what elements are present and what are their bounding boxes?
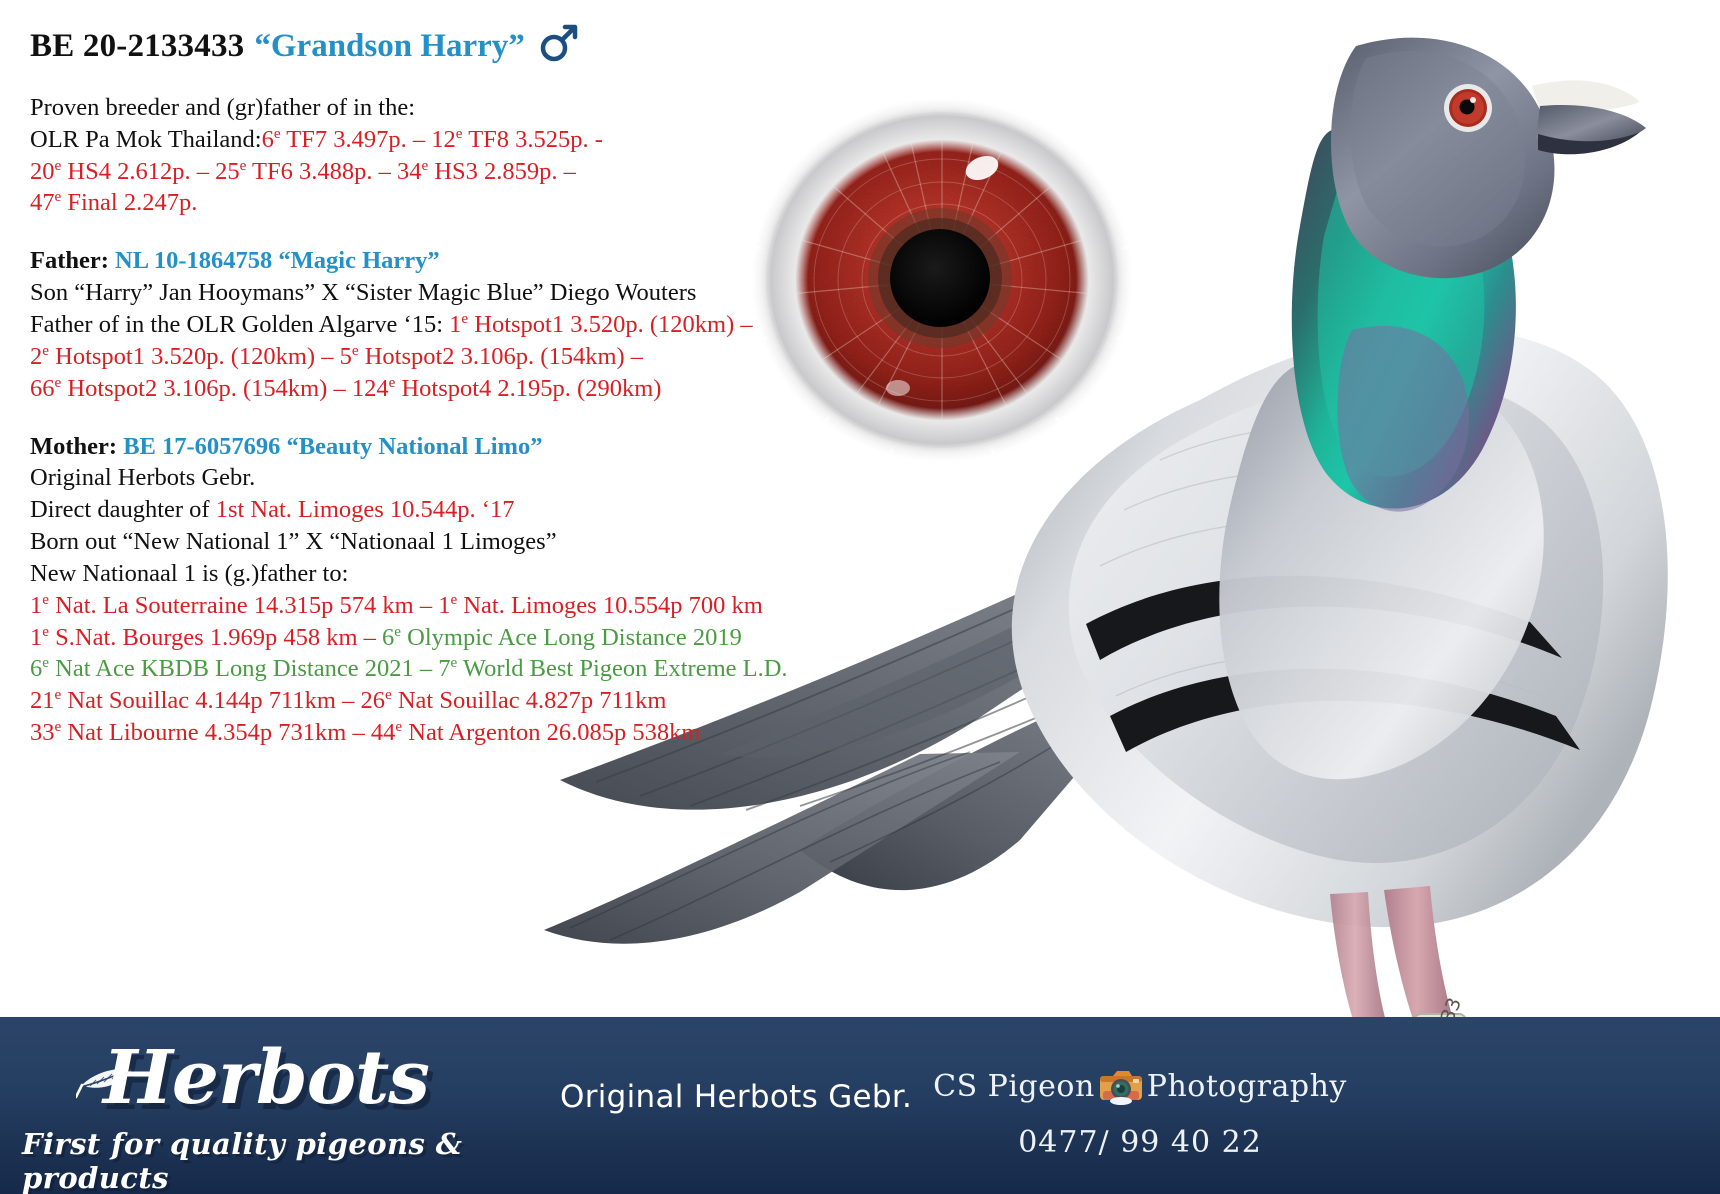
photo-credit-left: CS Pigeon bbox=[933, 1069, 1095, 1104]
bottom-banner: Herbots First for quality pigeons & prod… bbox=[0, 1017, 1720, 1194]
mother-origin-line: Original Herbots Gebr. bbox=[30, 462, 820, 494]
result-segment: Nat Libourne 4.354p 731km – 44 bbox=[61, 719, 395, 746]
father-r3c: Hotspot4 2.195p. (290km) bbox=[395, 375, 661, 402]
intro-line-4: 47e Final 2.247p. bbox=[30, 187, 820, 219]
father-results-line-3: 66e Hotspot2 3.106p. (154km) – 124e Hots… bbox=[30, 373, 820, 405]
olr-r1a: 6 bbox=[262, 126, 274, 153]
ring-number: BE 20-2133433 bbox=[30, 28, 244, 64]
result-segment: Nat Ace KBDB Long Distance 2021 – 7 bbox=[49, 655, 450, 682]
result-segment: 1 bbox=[30, 624, 42, 651]
result-segment: Olympic Ace Long Distance 2019 bbox=[401, 624, 742, 651]
father-r2b: Hotspot1 3.520p. (120km) – 5 bbox=[49, 343, 352, 370]
olr-label: OLR Pa Mok Thailand: bbox=[30, 126, 262, 153]
father-r2c: Hotspot2 3.106p. (154km) – bbox=[359, 343, 643, 370]
father-olr-line: Father of in the OLR Golden Algarve ‘15:… bbox=[30, 309, 820, 341]
mother-daughter-result: 1st Nat. Limoges 10.544p. ‘17 bbox=[216, 496, 515, 523]
olr-r2a: 20 bbox=[30, 158, 55, 185]
herbots-wordmark: Herbots bbox=[103, 1035, 429, 1121]
herbots-logo[interactable]: Herbots First for quality pigeons & prod… bbox=[8, 1025, 508, 1190]
herbots-tagline: First for quality pigeons & products bbox=[22, 1127, 508, 1194]
mother-ring-name: BE 17-6057696 “Beauty National Limo” bbox=[123, 433, 542, 460]
result-segment: 6 bbox=[382, 624, 394, 651]
pigeon-name: “Grandson Harry” bbox=[254, 28, 524, 64]
result-segment: 21 bbox=[30, 687, 55, 714]
result-segment: Nat Souillac 4.144p 711km – 26 bbox=[61, 687, 385, 714]
photo-credit: CS Pigeon Photography 0477/ 99 40 bbox=[930, 1069, 1350, 1160]
result-segment-sup: e bbox=[42, 622, 49, 639]
photo-credit-line: CS Pigeon Photography bbox=[930, 1069, 1350, 1113]
father-r3b: Hotspot2 3.106p. (154km) – 124 bbox=[61, 375, 388, 402]
father-olr-b: Hotspot1 3.520p. (120km) – bbox=[468, 311, 752, 338]
result-segment: Nat Souillac 4.827p 711km bbox=[392, 687, 667, 714]
result-segment: 1 bbox=[30, 592, 42, 619]
intro-line-1: Proven breeder and (gr)father of in the: bbox=[30, 92, 820, 124]
intro-paragraph: Proven breeder and (gr)father of in the:… bbox=[30, 92, 820, 219]
result-line: 1e Nat. La Souterraine 14.315p 574 km – … bbox=[30, 590, 820, 622]
result-segment: S.Nat. Bourges 1.969p 458 km – bbox=[49, 624, 382, 651]
olr-r1c: TF8 3.525p. - bbox=[463, 126, 603, 153]
father-r2a-sup: e bbox=[42, 342, 49, 359]
result-segment: 6 bbox=[30, 655, 42, 682]
result-segment: 33 bbox=[30, 719, 55, 746]
olr-r2b: HS4 2.612p. – 25 bbox=[61, 158, 239, 185]
olr-r1a-sup: e bbox=[274, 125, 281, 142]
mother-heading: Mother: BE 17-6057696 “Beauty National L… bbox=[30, 431, 820, 463]
father-paragraph: Father: NL 10-1864758 “Magic Harry” Son … bbox=[30, 245, 820, 404]
result-line: 6e Nat Ace KBDB Long Distance 2021 – 7e … bbox=[30, 653, 820, 685]
result-segment: Nat Argenton 26.085p 538km bbox=[402, 719, 700, 746]
father-parents-line: Son “Harry” Jan Hooymans” X “Sister Magi… bbox=[30, 277, 820, 309]
camera-icon bbox=[1099, 1071, 1143, 1113]
result-segment-sup: e bbox=[42, 591, 49, 608]
male-symbol-icon bbox=[539, 22, 579, 72]
father-r2a: 2 bbox=[30, 343, 42, 370]
father-label: Father: bbox=[30, 247, 109, 274]
result-segment: Nat. Limoges 10.554p 700 km bbox=[457, 592, 763, 619]
result-line: 21e Nat Souillac 4.144p 711km – 26e Nat … bbox=[30, 685, 820, 717]
page-title: BE 20-2133433“Grandson Harry” bbox=[30, 22, 820, 72]
photo-credit-phone: 0477/ 99 40 22 bbox=[930, 1125, 1350, 1160]
result-line: 33e Nat Libourne 4.354p 731km – 44e Nat … bbox=[30, 717, 820, 749]
intro-line-3: 20e HS4 2.612p. – 25e TF6 3.488p. – 34e … bbox=[30, 156, 820, 188]
mother-label: Mother: bbox=[30, 433, 117, 460]
father-heading: Father: NL 10-1864758 “Magic Harry” bbox=[30, 245, 820, 277]
mother-father-to-line: New Nationaal 1 is (g.)father to: bbox=[30, 558, 820, 590]
result-line: 1e S.Nat. Bourges 1.969p 458 km – 6e Oly… bbox=[30, 622, 820, 654]
olr-r1b-sup: e bbox=[456, 125, 463, 142]
father-results-line-2: 2e Hotspot1 3.520p. (120km) – 5e Hotspot… bbox=[30, 341, 820, 373]
father-r2b-sup: e bbox=[352, 342, 359, 359]
result-segment-sup: e bbox=[385, 686, 392, 703]
father-olr-a: 1 bbox=[449, 311, 461, 338]
result-segment-sup: e bbox=[42, 654, 49, 671]
intro-line-2: OLR Pa Mok Thailand:6e TF7 3.497p. – 12e… bbox=[30, 124, 820, 156]
mother-daughter-label: Direct daughter of bbox=[30, 496, 210, 523]
pedigree-card: 2133433 BE 20-2133433“Grandson Harry” bbox=[0, 0, 1720, 1194]
mother-daughter-line: Direct daughter of 1st Nat. Limoges 10.5… bbox=[30, 494, 820, 526]
olr-r3b: Final 2.247p. bbox=[61, 189, 197, 216]
mother-born-line: Born out “New National 1” X “Nationaal 1… bbox=[30, 526, 820, 558]
breeder-credit: Original Herbots Gebr. bbox=[560, 1079, 912, 1115]
olr-r3a: 47 bbox=[30, 189, 55, 216]
result-segment: Nat. La Souterraine 14.315p 574 km – 1 bbox=[49, 592, 450, 619]
pedigree-text-column: BE 20-2133433“Grandson Harry” Proven bre… bbox=[30, 22, 820, 775]
father-ring-name: NL 10-1864758 “Magic Harry” bbox=[115, 247, 440, 274]
olr-r1b: TF7 3.497p. – 12 bbox=[281, 126, 456, 153]
father-r3a: 66 bbox=[30, 375, 55, 402]
photo-credit-right: Photography bbox=[1147, 1069, 1347, 1104]
olr-r2d: HS3 2.859p. – bbox=[428, 158, 576, 185]
results-list: 1e Nat. La Souterraine 14.315p 574 km – … bbox=[30, 590, 820, 749]
result-segment: World Best Pigeon Extreme L.D. bbox=[457, 655, 787, 682]
mother-paragraph: Mother: BE 17-6057696 “Beauty National L… bbox=[30, 431, 820, 749]
father-olr-label: Father of in the OLR Golden Algarve ‘15: bbox=[30, 311, 443, 338]
olr-r2c: TF6 3.488p. – 34 bbox=[246, 158, 421, 185]
